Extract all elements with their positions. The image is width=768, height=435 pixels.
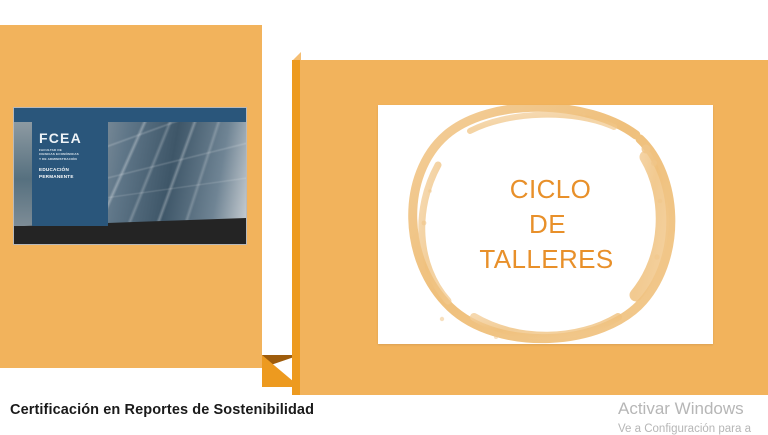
slide-thumbnail[interactable]: FCEA FACULTAD DE CIENCIAS ECONÓMICAS Y D… <box>14 108 246 244</box>
main-slide[interactable]: CICLO DE TALLERES <box>378 105 713 344</box>
slide-title-block: CICLO DE TALLERES <box>378 105 713 344</box>
fcea-logo: FCEA FACULTAD DE CIENCIAS ECONÓMICAS Y D… <box>32 122 108 226</box>
slide-canvas: FCEA FACULTAD DE CIENCIAS ECONÓMICAS Y D… <box>0 0 768 435</box>
watermark-subtitle: Ve a Configuración para a <box>618 422 768 435</box>
slide-title-line-2: DE <box>529 210 566 239</box>
fcea-acronym: FCEA <box>39 131 108 145</box>
photo-left-strip <box>14 122 32 226</box>
slide-title-line-1: CICLO <box>510 175 591 204</box>
watermark-title: Activar Windows <box>618 399 768 419</box>
page-title: Certificación en Reportes de Sostenibili… <box>10 402 314 418</box>
fcea-program-line-2: PERMANENTE <box>39 174 108 180</box>
windows-activation-watermark: Activar Windows Ve a Configuración para … <box>618 399 768 435</box>
fcea-faculty-line-3: Y DE ADMINISTRACIÓN <box>39 157 108 161</box>
slide-title-line-3: TALLERES <box>479 245 613 274</box>
